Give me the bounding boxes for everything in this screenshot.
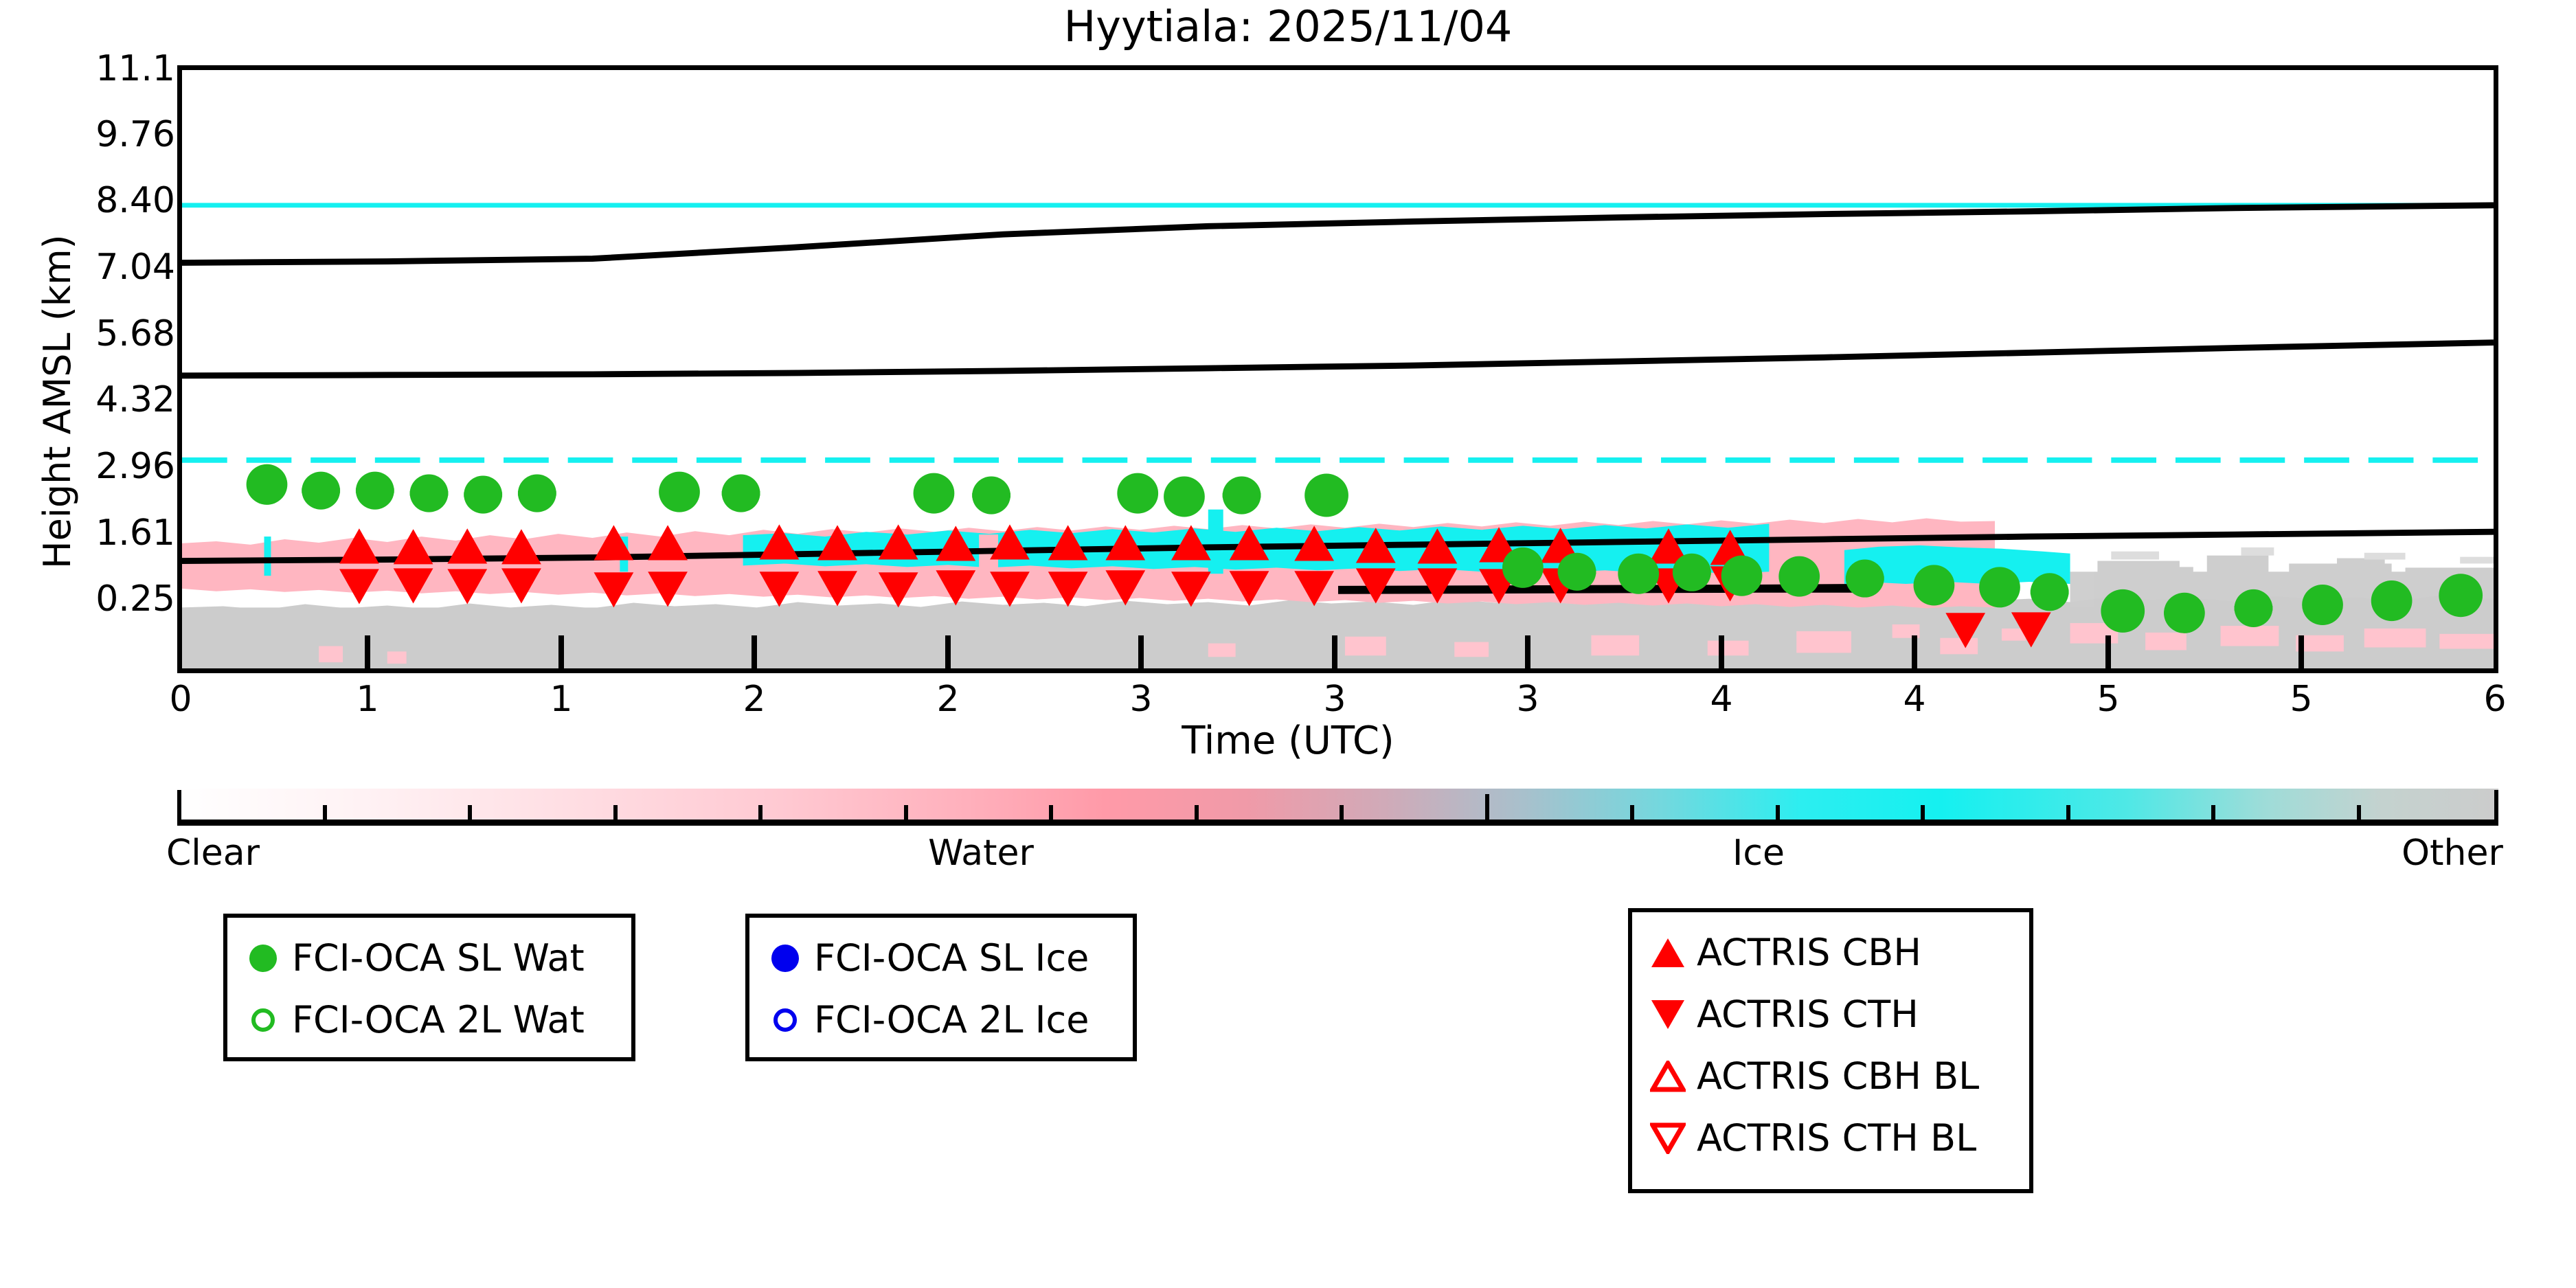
x-tick-mark — [752, 635, 757, 673]
colorbar-tick — [2211, 805, 2215, 820]
triangle-up-filled-icon — [1646, 931, 1690, 975]
colorbar-tick — [1195, 805, 1199, 820]
legend-ice: FCI-OCA SL Ice FCI-OCA 2L Ice — [745, 914, 1137, 1061]
x-tick-label: 0 — [139, 679, 222, 720]
y-tick-label: 4.32 — [95, 379, 175, 420]
colorbar-tick — [1049, 805, 1053, 820]
colorbar-tick — [323, 805, 327, 820]
x-tick-mark — [1912, 635, 1917, 673]
y-tick-label: 7.04 — [95, 247, 175, 288]
x-tick-label: 1 — [520, 679, 602, 720]
y-tick-label: 1.61 — [95, 512, 175, 554]
colorbar-tick — [177, 790, 181, 822]
x-tick-mark — [2105, 635, 2111, 673]
legend-item-label: FCI-OCA SL Ice — [814, 940, 1089, 977]
x-axis-label: Time (UTC) — [0, 719, 2576, 763]
x-tick-mark — [1138, 635, 1144, 673]
plot-canvas — [182, 70, 2494, 668]
colorbar-tick — [2066, 805, 2070, 820]
legend-water: FCI-OCA SL Wat FCI-OCA 2L Wat — [223, 914, 635, 1061]
x-tick-mark — [2298, 635, 2304, 673]
x-tick-label: 4 — [1680, 679, 1763, 720]
x-tick-label: 3 — [1100, 679, 1182, 720]
open-circle-icon — [763, 998, 807, 1042]
x-tick-mark — [1719, 635, 1724, 673]
colorbar-label-ice: Ice — [1621, 833, 1896, 874]
x-tick-label: 1 — [326, 679, 409, 720]
legend-item-label: FCI-OCA SL Wat — [292, 940, 585, 977]
legend-item[interactable]: FCI-OCA SL Wat — [241, 927, 613, 989]
colorbar-label-clear: Clear — [76, 833, 350, 874]
chart-title: Hyytiala: 2025/11/04 — [0, 1, 2576, 52]
legend-item[interactable]: ACTRIS CTH — [1646, 984, 2011, 1046]
x-tick-label: 3 — [1293, 679, 1376, 720]
colorbar-tick — [1485, 794, 1489, 820]
y-tick-label: 5.68 — [95, 313, 175, 354]
x-tick-mark — [365, 635, 370, 673]
triangle-down-filled-icon — [1646, 993, 1690, 1037]
y-tick-label: 9.76 — [95, 114, 175, 155]
plot-area — [177, 65, 2498, 673]
legend-item[interactable]: ACTRIS CBH BL — [1646, 1046, 2011, 1107]
legend-item[interactable]: FCI-OCA 2L Wat — [241, 989, 613, 1051]
legend-item-label: ACTRIS CTH — [1697, 996, 1919, 1033]
legend-actris: ACTRIS CBH ACTRIS CTH ACTRIS CBH BL ACTR… — [1628, 908, 2033, 1193]
legend-item-label: FCI-OCA 2L Ice — [814, 1002, 1089, 1039]
legend-item-label: ACTRIS CBH BL — [1697, 1058, 1979, 1095]
open-circle-icon — [241, 998, 285, 1042]
legend-item[interactable]: ACTRIS CTH BL — [1646, 1107, 2011, 1169]
x-tick-label: 5 — [2260, 679, 2342, 720]
y-tick-label: 8.40 — [95, 180, 175, 221]
legend-item[interactable]: FCI-OCA SL Ice — [763, 927, 1115, 989]
x-tick-mark — [945, 635, 951, 673]
filled-circle-icon — [763, 936, 807, 980]
legend-item[interactable]: FCI-OCA 2L Ice — [763, 989, 1115, 1051]
triangle-down-open-icon — [1646, 1116, 1690, 1160]
x-tick-label: 6 — [2454, 679, 2536, 720]
colorbar-tick — [2357, 805, 2361, 820]
legend-item[interactable]: ACTRIS CBH — [1646, 922, 2011, 984]
y-tick-label: 0.25 — [95, 578, 175, 620]
colorbar-tick — [758, 805, 762, 820]
x-tick-mark — [558, 635, 564, 673]
colorbar-tick — [1921, 805, 1925, 820]
x-tick-label: 2 — [907, 679, 989, 720]
colorbar-tick — [468, 805, 472, 820]
x-tick-mark — [1332, 635, 1337, 673]
colorbar-axis-line — [177, 820, 2498, 826]
colorbar-tick — [2494, 790, 2498, 822]
legend-item-label: ACTRIS CBH — [1697, 934, 1921, 971]
y-axis-label: Height AMSL (km) — [36, 234, 79, 569]
figure-root: Hyytiala: 2025/11/04 Height AMSL (km) 11… — [0, 0, 2576, 1288]
colorbar-tick — [613, 805, 618, 820]
x-tick-label: 2 — [713, 679, 795, 720]
colorbar-tick — [1630, 805, 1634, 820]
colorbar-tick — [904, 805, 908, 820]
colorbar-label-other: Other — [2315, 833, 2576, 874]
triangle-up-open-icon — [1646, 1054, 1690, 1098]
legend-item-label: ACTRIS CTH BL — [1697, 1120, 1976, 1157]
legend-item-label: FCI-OCA 2L Wat — [292, 1002, 585, 1039]
y-tick-label: 11.1 — [95, 48, 175, 89]
x-tick-label: 3 — [1487, 679, 1569, 720]
colorbar-tick — [1776, 805, 1780, 820]
x-tick-label: 4 — [1873, 679, 1956, 720]
colorbar-label-water: Water — [844, 833, 1118, 874]
colorbar-tick — [1340, 805, 1344, 820]
x-tick-mark — [1525, 635, 1530, 673]
y-tick-label: 2.96 — [95, 446, 175, 487]
x-tick-label: 5 — [2067, 679, 2149, 720]
filled-circle-icon — [241, 936, 285, 980]
